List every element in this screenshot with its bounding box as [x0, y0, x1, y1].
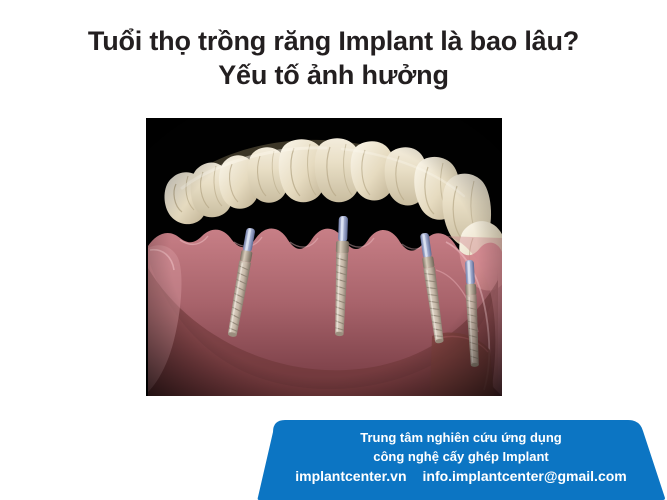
- banner-line-2: công nghệ cấy ghép Implant: [373, 447, 549, 466]
- contact-row: implantcenter.vn info.implantcenter@gmai…: [295, 467, 627, 486]
- website-link[interactable]: implantcenter.vn: [295, 467, 406, 486]
- banner-text-group: Trung tâm nghiên cứu ứng dụng công nghệ …: [255, 418, 667, 500]
- banner-line-1: Trung tâm nghiên cứu ứng dụng: [360, 428, 562, 447]
- footer-contact-banner: Trung tâm nghiên cứu ứng dụng công nghệ …: [255, 418, 667, 500]
- poster-canvas: Tuổi thọ trồng răng Implant là bao lâu? …: [0, 0, 667, 500]
- email-link[interactable]: info.implantcenter@gmail.com: [423, 467, 627, 486]
- illustration-svg: [146, 118, 502, 396]
- page-title: Tuổi thọ trồng răng Implant là bao lâu? …: [0, 24, 667, 92]
- dental-implant-bridge-illustration: [146, 118, 502, 396]
- page-title-line-1: Tuổi thọ trồng răng Implant là bao lâu?: [0, 24, 667, 58]
- page-title-line-2: Yếu tố ảnh hưởng: [0, 58, 667, 92]
